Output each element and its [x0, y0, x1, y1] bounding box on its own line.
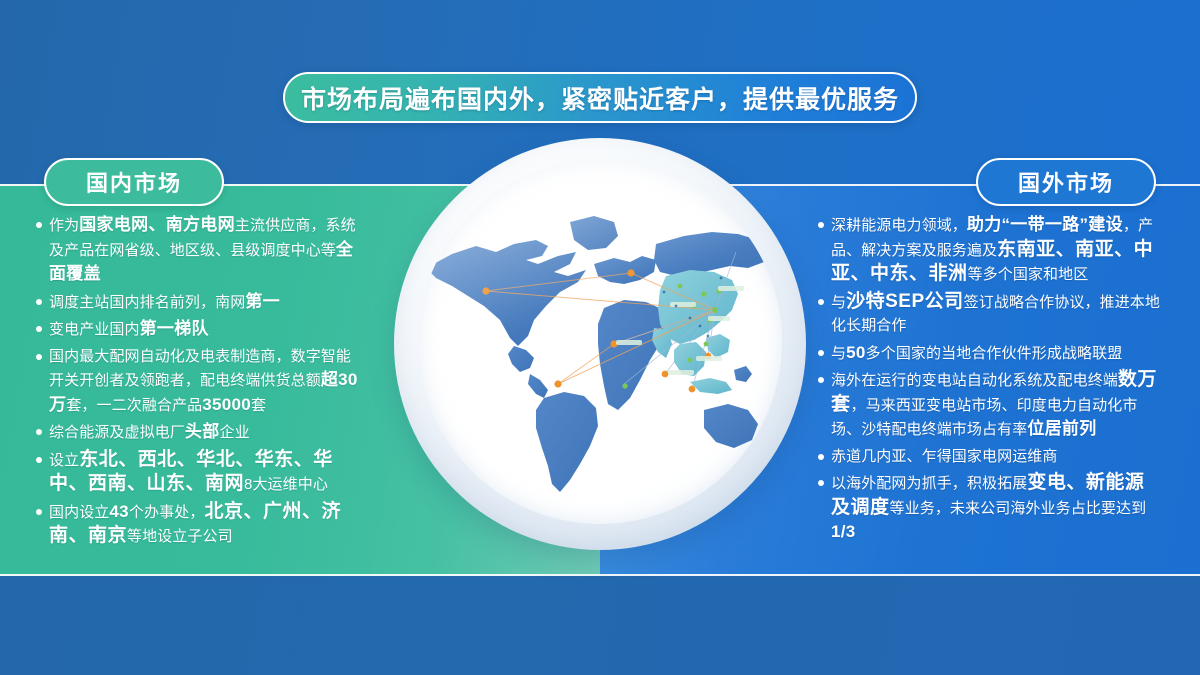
bullet-dot-icon — [36, 457, 42, 463]
bullet-dot-icon — [818, 299, 824, 305]
bullet-item: 与50多个国家的当地合作伙件形成战略联盟 — [818, 341, 1162, 366]
bullet-text: 国内最大配网自动化及电表制造商，数字智能开关开创者及领跑者，配电终端供货总额超3… — [49, 345, 366, 418]
bullet-dot-icon — [36, 429, 42, 435]
bullet-item: 深耕能源电力领域，助力“一带一路”建设，产品、解决方案及服务遍及东南亚、南亚、中… — [818, 213, 1162, 287]
bullet-item: 综合能源及虚拟电厂头部企业 — [36, 420, 366, 445]
bullet-item: 国内最大配网自动化及电表制造商，数字智能开关开创者及领跑者，配电终端供货总额超3… — [36, 345, 366, 418]
bullet-item: 赤道几内亚、乍得国家电网运维商 — [818, 445, 1162, 469]
bullet-text: 国内设立43个办事处，北京、广州、济南、南京等地设立子公司 — [49, 500, 366, 549]
bullet-text: 海外在运行的变电站自动化系统及配电终端数万套，马来西亚变电站市场、印度电力自动化… — [831, 368, 1162, 442]
overseas-market-heading: 国外市场 — [1018, 166, 1114, 198]
bullet-text: 与50多个国家的当地合作伙件形成战略联盟 — [831, 341, 1122, 366]
bullet-dot-icon — [36, 509, 42, 515]
bullet-text: 综合能源及虚拟电厂头部企业 — [49, 420, 250, 445]
domestic-market-heading: 国内市场 — [86, 166, 182, 198]
bullet-item: 设立东北、西北、华北、华东、华中、西南、山东、南网8大运维中心 — [36, 448, 366, 497]
bullet-dot-icon — [36, 326, 42, 332]
bullet-dot-icon — [36, 299, 42, 305]
bullet-dot-icon — [818, 480, 824, 486]
bullet-text: 作为国家电网、南方电网主流供应商，系统及产品在网省级、地区级、县级调度中心等全面… — [49, 213, 366, 287]
overseas-market-heading-pill: 国外市场 — [976, 158, 1156, 206]
bullet-item: 国内设立43个办事处，北京、广州、济南、南京等地设立子公司 — [36, 500, 366, 549]
bullet-item: 海外在运行的变电站自动化系统及配电终端数万套，马来西亚变电站市场、印度电力自动化… — [818, 368, 1162, 442]
bullet-dot-icon — [36, 222, 42, 228]
background-bottom-band — [0, 578, 1200, 675]
page-title: 市场布局遍布国内外，紧密贴近客户，提供最优服务 — [301, 80, 899, 116]
bullet-dot-icon — [818, 377, 824, 383]
bullet-text: 与沙特SEP公司签订战略合作协议，推进本地化长期合作 — [831, 290, 1162, 338]
bullet-text: 变电产业国内第一梯队 — [49, 317, 209, 342]
slide-canvas: 市场布局遍布国内外，紧密贴近客户，提供最优服务 国内市场 国外市场 作为国家电网… — [0, 0, 1200, 675]
bullet-item: 以海外配网为抓手，积极拓展变电、新能源及调度等业务，未来公司海外业务占比要达到1… — [818, 471, 1162, 545]
overseas-market-list: 深耕能源电力领域，助力“一带一路”建设，产品、解决方案及服务遍及东南亚、南亚、中… — [818, 213, 1162, 548]
bullet-dot-icon — [818, 222, 824, 228]
bullet-text: 调度主站国内排名前列，南网第一 — [49, 290, 280, 315]
bullet-text: 以海外配网为抓手，积极拓展变电、新能源及调度等业务，未来公司海外业务占比要达到1… — [831, 471, 1162, 545]
bullet-item: 变电产业国内第一梯队 — [36, 317, 366, 342]
bullet-text: 深耕能源电力领域，助力“一带一路”建设，产品、解决方案及服务遍及东南亚、南亚、中… — [831, 213, 1162, 287]
bullet-item: 调度主站国内排名前列，南网第一 — [36, 290, 366, 315]
bullet-item: 与沙特SEP公司签订战略合作协议，推进本地化长期合作 — [818, 290, 1162, 338]
bullet-text: 设立东北、西北、华北、华东、华中、西南、山东、南网8大运维中心 — [49, 448, 366, 497]
domestic-market-list: 作为国家电网、南方电网主流供应商，系统及产品在网省级、地区级、县级调度中心等全面… — [36, 213, 366, 552]
domestic-market-heading-pill: 国内市场 — [44, 158, 224, 206]
bullet-dot-icon — [818, 350, 824, 356]
bullet-item: 作为国家电网、南方电网主流供应商，系统及产品在网省级、地区级、县级调度中心等全面… — [36, 213, 366, 287]
bullet-dot-icon — [818, 454, 824, 460]
bullet-dot-icon — [36, 354, 42, 360]
bullet-text: 赤道几内亚、乍得国家电网运维商 — [831, 445, 1058, 469]
slide-title-pill: 市场布局遍布国内外，紧密贴近客户，提供最优服务 — [283, 72, 917, 123]
